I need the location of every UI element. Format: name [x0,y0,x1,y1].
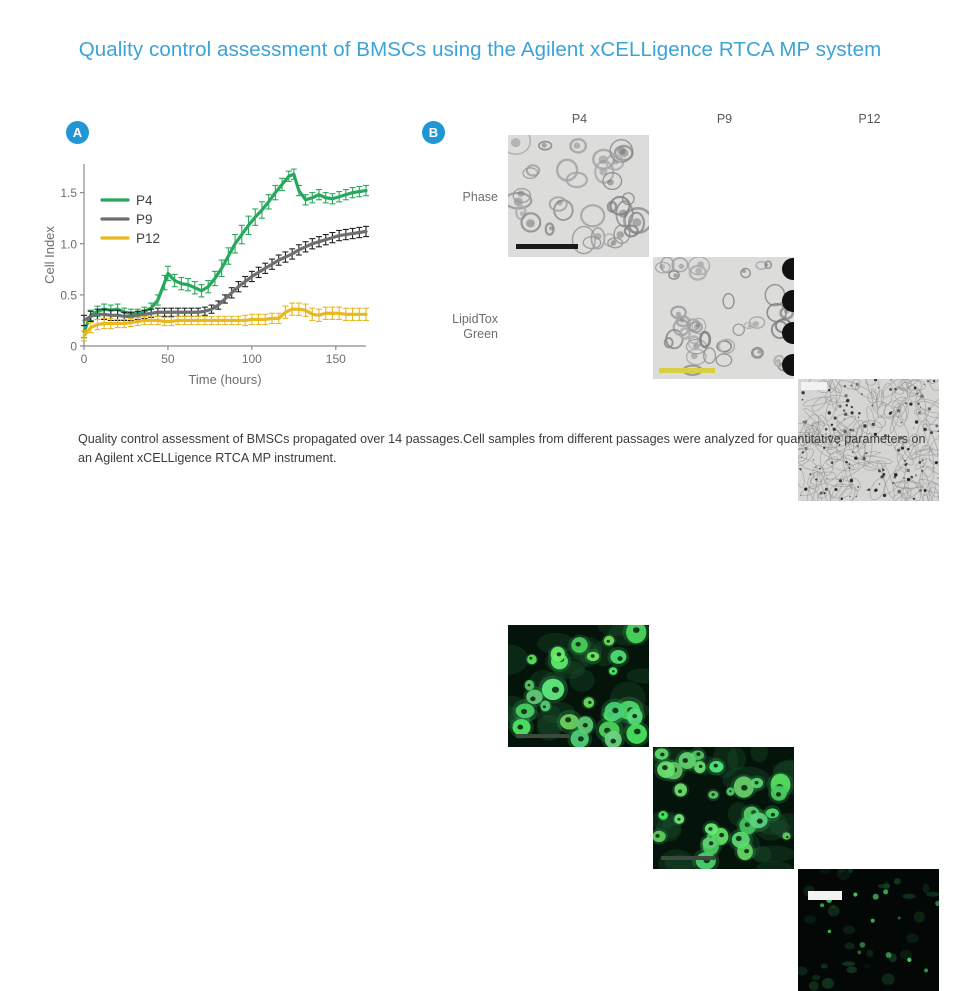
x-tick-label: 0 [81,352,88,366]
phase-p4-render [508,135,649,257]
x-axis-label: Time (hours) [188,372,261,387]
column-header-p9: P9 [652,112,797,126]
row-label-phase-line1: Phase [420,190,498,205]
image-phase-p4 [508,135,649,257]
y-axis-label: Cell Index [42,226,57,284]
y-tick-label: 0 [70,340,77,354]
scale-bar [659,368,715,373]
lipidtox-p9-render [653,747,794,869]
chart-svg: 00.51.01.5050100150Time (hours)Cell Inde… [40,150,370,390]
x-tick-label: 100 [242,352,262,366]
scale-bar [808,891,842,900]
microscopy-image-grid: P4 P9 P12 Phase LipidTox Green [420,112,940,397]
image-phase-p9 [653,257,794,379]
column-header-p12: P12 [797,112,942,126]
legend-label-p9: P9 [136,212,153,227]
y-tick-label: 1.0 [60,237,77,251]
page-title: Quality control assessment of BMSCs usin… [0,38,960,62]
y-tick-label: 0.5 [60,288,77,302]
cell-index-chart: 00.51.01.5050100150Time (hours)Cell Inde… [40,150,370,390]
scale-bar [801,382,827,390]
row-label-lipidtox-line1: LipidTox [420,312,498,327]
panel-badge-a: A [66,121,89,144]
column-header-p4: P4 [507,112,652,126]
scale-bar [516,244,578,249]
image-lipidtox-p9 [653,747,794,869]
figure-caption: Quality control assessment of BMSCs prop… [78,430,930,468]
row-label-lipidtox-line2: Green [420,327,498,342]
image-lipidtox-p12 [798,869,939,991]
lipidtox-p12-render [798,869,939,991]
row-label-lipidtox-green: LipidTox Green [420,312,498,342]
y-tick-label: 1.5 [60,186,77,200]
phase-p9-render [653,257,794,379]
image-lipidtox-p4 [508,625,649,747]
legend-label-p12: P12 [136,231,160,246]
lipidtox-p4-render [508,625,649,747]
scale-bar [516,734,570,738]
x-tick-label: 50 [161,352,175,366]
x-tick-label: 150 [326,352,346,366]
scale-bar [661,856,715,860]
row-label-phase: Phase [420,190,498,205]
legend-label-p4: P4 [136,193,153,208]
